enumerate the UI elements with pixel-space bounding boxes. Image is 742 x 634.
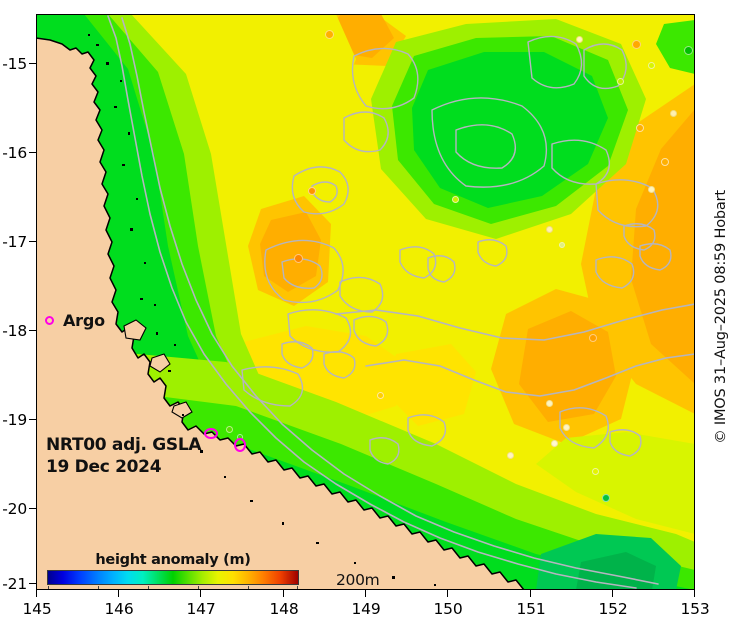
colorbar-tick: -0.1 — [128, 589, 168, 590]
colorbar-tick-labels: -0.5 -0.3 -0.1 0.1 0.3 0.5 — [47, 589, 299, 590]
obs-marker — [661, 158, 669, 166]
obs-marker — [294, 254, 303, 263]
x-axis-label: 146 — [96, 600, 142, 618]
x-tick — [36, 590, 37, 597]
x-axis-label: 148 — [261, 600, 307, 618]
argo-legend-label: Argo — [63, 311, 105, 330]
y-axis-label: -18 — [0, 322, 27, 340]
map-plot-area[interactable]: Argo NRT00 adj. GSLA 19 Dec 2024 height … — [36, 14, 695, 590]
obs-marker — [694, 154, 695, 161]
x-axis-label: 153 — [672, 600, 718, 618]
y-axis-label: -20 — [0, 500, 27, 518]
obs-marker — [546, 400, 553, 407]
product-name: NRT00 adj. GSLA — [46, 434, 201, 456]
y-axis-label: -16 — [0, 144, 27, 162]
obs-marker — [602, 494, 610, 502]
x-axis-label: 149 — [343, 600, 389, 618]
colorbar-tick: 0.3 — [228, 589, 268, 590]
colorbar: height anomaly (m) -0.5 -0.3 -0.1 0.1 0.… — [47, 552, 299, 590]
obs-marker — [632, 40, 641, 49]
y-tick — [29, 330, 36, 331]
x-tick — [365, 590, 366, 597]
y-axis-label: -19 — [0, 411, 27, 429]
obs-marker — [559, 242, 565, 248]
obs-marker — [684, 46, 693, 55]
y-tick — [29, 583, 36, 584]
isobath-200m-label: 200m — [336, 571, 389, 589]
x-tick — [530, 590, 531, 597]
obs-marker — [226, 426, 233, 433]
colorbar-title: height anomaly (m) — [47, 552, 299, 568]
product-date: 19 Dec 2024 — [46, 456, 201, 478]
argo-marker-icon — [45, 316, 54, 325]
obs-marker — [648, 62, 655, 69]
isobath-1000m-label: 1000m — [336, 589, 389, 590]
x-axis-label: 147 — [178, 600, 224, 618]
y-axis-label: -15 — [0, 55, 27, 73]
x-tick — [694, 590, 695, 597]
product-title-block: NRT00 adj. GSLA 19 Dec 2024 — [46, 434, 201, 478]
obs-marker — [546, 226, 553, 233]
obs-marker — [592, 468, 599, 475]
x-axis-label: 152 — [590, 600, 636, 618]
y-tick — [29, 63, 36, 64]
y-tick — [29, 508, 36, 509]
obs-marker — [648, 186, 655, 193]
colorbar-tick: 0.1 — [178, 589, 218, 590]
obs-marker — [308, 187, 316, 195]
obs-marker — [670, 110, 677, 117]
argo-float-marker — [204, 428, 218, 439]
argo-legend: Argo — [45, 311, 105, 330]
obs-marker — [452, 196, 459, 203]
y-tick — [29, 419, 36, 420]
y-axis-label: -17 — [0, 233, 27, 251]
obs-marker — [563, 424, 570, 431]
obs-marker — [551, 440, 558, 447]
x-tick — [283, 590, 284, 597]
x-axis-label: 151 — [508, 600, 554, 618]
obs-marker — [589, 334, 597, 342]
figure-canvas: Argo NRT00 adj. GSLA 19 Dec 2024 height … — [0, 0, 742, 634]
colorbar-gradient — [47, 570, 299, 585]
x-tick — [612, 590, 613, 597]
x-axis-label: 145 — [14, 600, 60, 618]
x-tick — [118, 590, 119, 597]
x-tick — [200, 590, 201, 597]
argo-float-marker — [234, 438, 246, 452]
obs-marker — [325, 30, 334, 39]
y-tick — [29, 152, 36, 153]
obs-marker — [636, 124, 644, 132]
x-tick — [447, 590, 448, 597]
y-tick — [29, 241, 36, 242]
obs-marker — [576, 36, 583, 43]
y-axis-label: -21 — [0, 575, 27, 593]
x-axis-label: 150 — [425, 600, 471, 618]
sea-level-anomaly-field — [36, 14, 695, 590]
colorbar-tick: -0.5 — [36, 589, 68, 590]
obs-marker — [377, 392, 384, 399]
copyright-credit: © IMOS 31–Aug–2025 08:59 Hobart — [713, 190, 729, 444]
obs-marker — [617, 78, 624, 85]
obs-marker — [507, 452, 514, 459]
colorbar-tick: -0.3 — [78, 589, 118, 590]
bathymetry-depth-key: 200m 1000m — [336, 571, 389, 590]
